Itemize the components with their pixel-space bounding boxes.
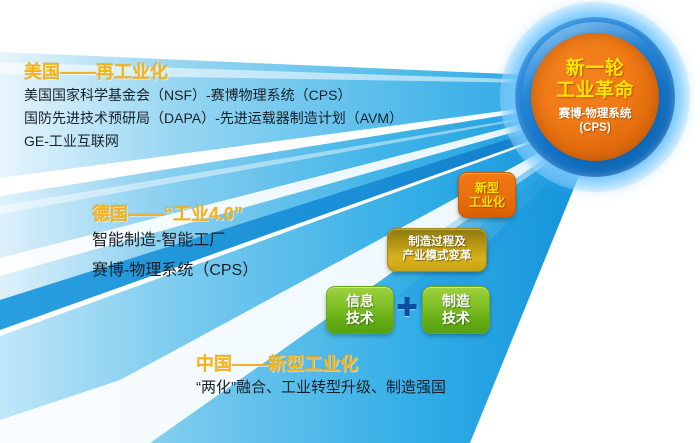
box-information-technology-line-2: 技术 (346, 310, 374, 327)
hub-circle: 新一轮 工业革命 赛博-物理系统 (CPS) (500, 2, 690, 192)
plus-icon: ✚ (396, 296, 418, 318)
region-usa-heading: 美国——再工业化 (24, 58, 403, 84)
box-manufacturing-change-line-2: 产业模式变革 (403, 250, 472, 264)
box-manufacturing-technology-line-1: 制造 (442, 293, 470, 310)
box-manufacturing-change-line-1: 制造过程及 (403, 236, 472, 250)
box-manufacturing-change: 制造过程及 产业模式变革 (387, 228, 487, 272)
region-china-heading: 中国——新型工业化 (196, 350, 446, 376)
hub-title-line-2: 工业革命 (556, 80, 634, 101)
infographic-canvas: 新一轮 工业革命 赛博-物理系统 (CPS) 美国——再工业化 美国国家科学基金… (0, 0, 700, 443)
hub-subtitle-line-2: (CPS) (559, 122, 632, 136)
box-information-technology-line-1: 信息 (346, 293, 374, 310)
hub-subtitle-line-1: 赛博-物理系统 (559, 108, 632, 122)
box-new-industrialization-line-2: 工业化 (469, 195, 505, 209)
hub-core: 新一轮 工业革命 赛博-物理系统 (CPS) (531, 33, 659, 161)
region-germany: 德国——“工业4.0” 智能制造-智能工厂 赛博-物理系统（CPS） (92, 200, 258, 285)
box-new-industrialization-line-1: 新型 (469, 181, 505, 195)
hub-title-line-1: 新一轮 (556, 58, 634, 79)
region-usa-line-1: 美国国家科学基金会（NSF）-赛博物理系统（CPS） (24, 84, 403, 107)
region-china-line-1: “两化”融合、工业转型升级、制造强国 (196, 376, 446, 401)
region-germany-line-2: 赛博-物理系统（CPS） (92, 256, 258, 286)
box-information-technology: 信息 技术 (326, 286, 394, 334)
hub-title: 新一轮 工业革命 (556, 58, 634, 101)
box-manufacturing-technology-line-2: 技术 (442, 310, 470, 327)
region-usa-line-2: 国防先进技术预研局（DAPA）-先进运载器制造计划（AVM） (24, 107, 403, 130)
region-usa: 美国——再工业化 美国国家科学基金会（NSF）-赛博物理系统（CPS） 国防先进… (24, 58, 403, 153)
region-china: 中国——新型工业化 “两化”融合、工业转型升级、制造强国 (196, 350, 446, 401)
region-germany-line-1: 智能制造-智能工厂 (92, 226, 258, 256)
region-usa-line-3: GE-工业互联网 (24, 130, 403, 153)
box-new-industrialization: 新型 工业化 (458, 172, 516, 218)
hub-subtitle: 赛博-物理系统 (CPS) (559, 108, 632, 136)
box-manufacturing-technology: 制造 技术 (422, 286, 490, 334)
region-germany-heading: 德国——“工业4.0” (92, 200, 258, 226)
